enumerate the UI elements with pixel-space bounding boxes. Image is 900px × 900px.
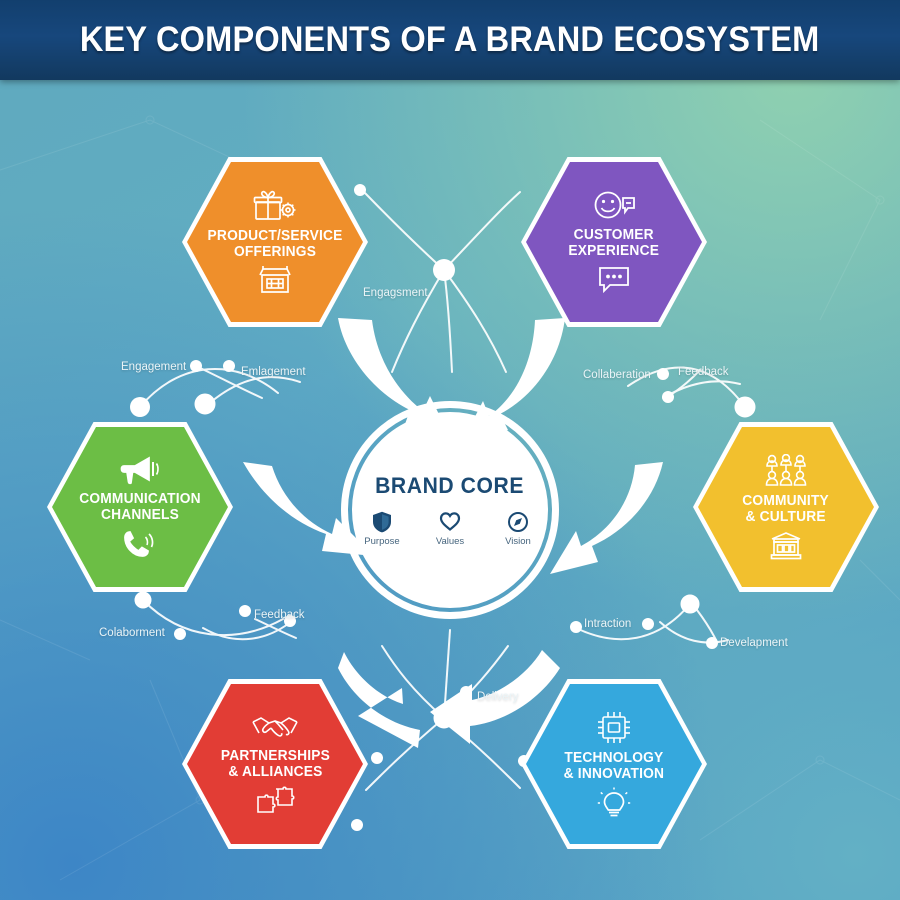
puzzle-pieces-icon <box>254 785 296 815</box>
node-community-culture[interactable]: COMMUNITY & CULTURE <box>693 422 879 592</box>
node-partnerships-alliances[interactable]: PARTNERSHIPS & ALLIANCES <box>182 679 368 849</box>
core-pillar-values[interactable]: Values <box>426 511 474 547</box>
core-pillar-label: Purpose <box>364 536 399 547</box>
megaphone-icon <box>119 454 161 486</box>
compass-icon <box>507 511 529 533</box>
brand-core[interactable]: BRAND CORE Purpose Values <box>352 412 548 608</box>
connector-label-delivery: Delivery <box>477 691 519 703</box>
connector-label-feedback-left: Feedback <box>254 609 305 621</box>
smiley-chat-icon <box>592 190 636 222</box>
institution-building-icon <box>769 530 803 560</box>
node-label: PRODUCT/SERVICE OFFERINGS <box>207 228 342 260</box>
heart-icon <box>439 511 461 533</box>
core-pillar-vision[interactable]: Vision <box>494 511 542 547</box>
node-technology-innovation[interactable]: TECHNOLOGY & INNOVATION <box>521 679 707 849</box>
page-title: KEY COMPONENTS OF A BRAND ECOSYSTEM <box>80 20 820 60</box>
connector-label-engagsment-center: Engagsment <box>363 287 428 299</box>
connector-label-intraction: Intraction <box>584 618 631 630</box>
connector-label-collaberation: Collaberation <box>583 369 651 381</box>
connector-label-colaborment: Colaborment <box>99 627 165 639</box>
node-label: COMMUNITY & CULTURE <box>743 493 830 525</box>
chat-bubble-icon <box>596 264 632 294</box>
gift-gear-icon <box>253 189 297 223</box>
node-communication-channels[interactable]: COMMUNICATION CHANNELS <box>47 422 233 592</box>
connector-label-emlagement: Emlagement <box>241 366 306 378</box>
node-label: COMMUNICATION CHANNELS <box>79 491 201 523</box>
node-label: CUSTOMER EXPERIENCE <box>569 227 660 259</box>
shop-storefront-icon <box>258 265 292 295</box>
infographic-canvas: KEY COMPONENTS OF A BRAND ECOSYSTEM <box>0 0 900 900</box>
header-bar: KEY COMPONENTS OF A BRAND ECOSYSTEM <box>0 0 900 80</box>
people-group-icon <box>762 454 810 488</box>
node-label: PARTNERSHIPS & ALLIANCES <box>220 748 329 780</box>
core-pillars: Purpose Values Vision <box>358 511 542 547</box>
node-label: TECHNOLOGY & INNOVATION <box>564 750 664 782</box>
connector-label-feedback-right: Feedback <box>678 366 729 378</box>
core-pillar-label: Vision <box>505 536 531 547</box>
core-pillar-label: Values <box>436 536 464 547</box>
node-product-service-offerings[interactable]: PRODUCT/SERVICE OFFERINGS <box>182 157 368 327</box>
phone-ring-icon <box>122 528 158 560</box>
connector-label-engagement-left: Engagement <box>121 361 186 373</box>
handshake-icon <box>251 713 299 743</box>
core-pillar-purpose[interactable]: Purpose <box>358 511 406 547</box>
lightbulb-icon <box>597 787 631 819</box>
node-customer-experience[interactable]: CUSTOMER EXPERIENCE <box>521 157 707 327</box>
core-title: BRAND CORE <box>376 473 525 499</box>
microchip-icon <box>594 709 634 745</box>
shield-icon <box>372 511 392 533</box>
connector-label-develapment: Develapment <box>720 637 788 649</box>
